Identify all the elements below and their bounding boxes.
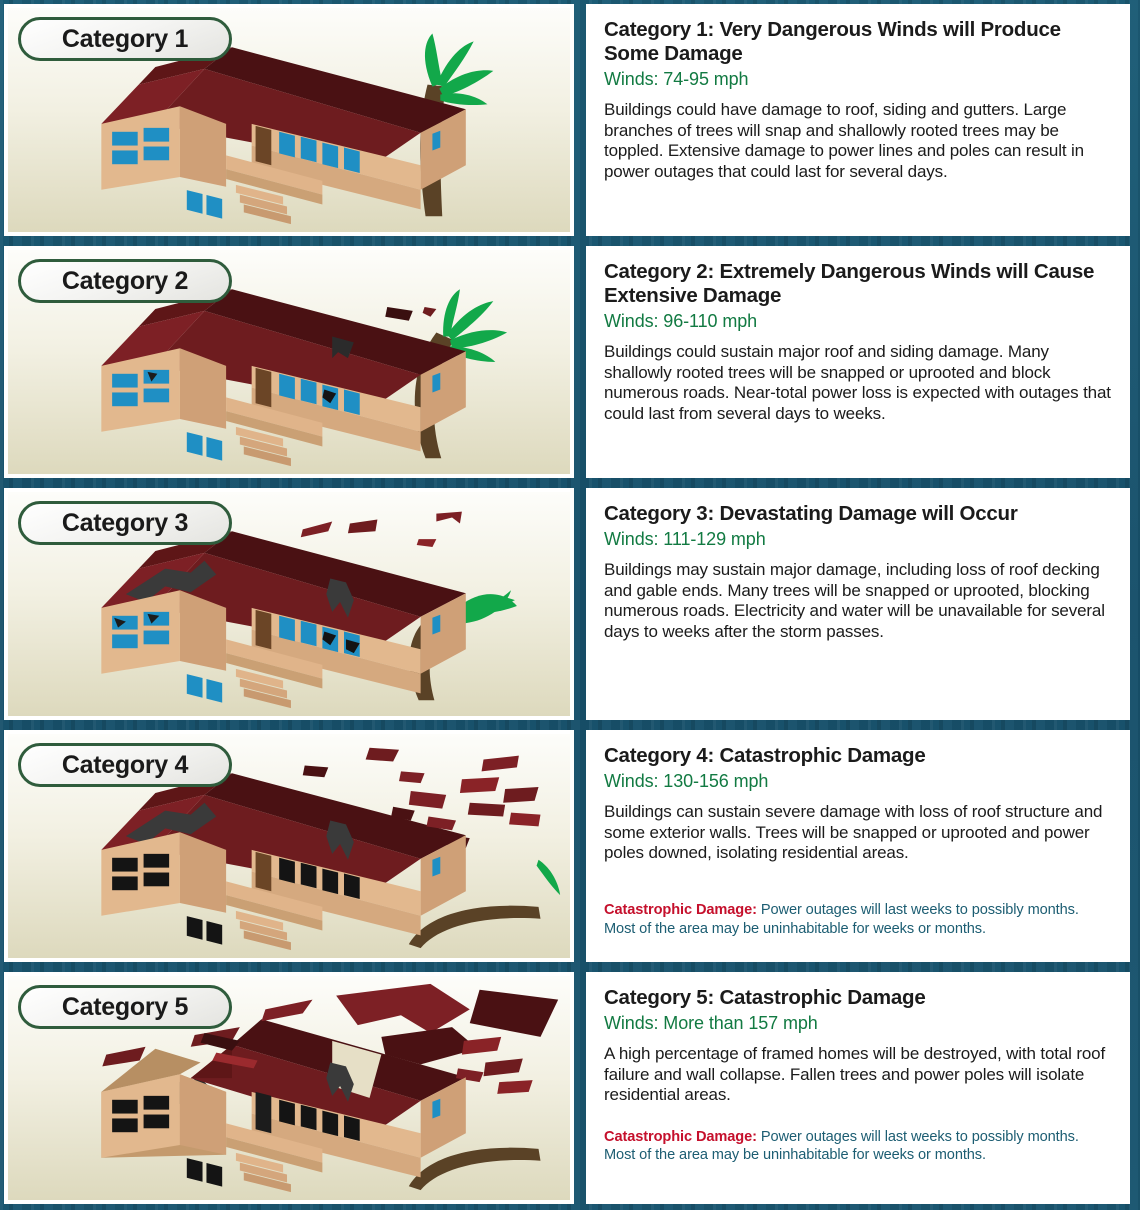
hurricane-scale-grid: Category 1	[0, 0, 1140, 1210]
text-cell-2: Category 2: Extremely Dangerous Winds wi…	[580, 242, 1140, 484]
text-card-3: Category 3: Devastating Damage will Occu…	[586, 488, 1130, 720]
text-cell-3: Category 3: Devastating Damage will Occu…	[580, 484, 1140, 726]
illustration-cell-2: Category 2	[0, 242, 580, 484]
text-card-5: Category 5: Catastrophic Damage Winds: M…	[586, 972, 1130, 1204]
text-cell-1: Category 1: Very Dangerous Winds will Pr…	[580, 0, 1140, 242]
category-badge-2[interactable]: Category 2	[18, 259, 232, 303]
wind-speed: Winds: 74-95 mph	[604, 69, 1112, 90]
damage-description: Buildings could have damage to roof, sid…	[604, 100, 1112, 182]
text-card-2: Category 2: Extremely Dangerous Winds wi…	[586, 246, 1130, 478]
wind-speed: Winds: 96-110 mph	[604, 311, 1112, 332]
catastrophic-note-label: Catastrophic Damage:	[604, 902, 757, 918]
illustration-card-4: Category 4	[4, 730, 574, 962]
illustration-card-2: Category 2	[4, 246, 574, 478]
catastrophic-note: Catastrophic Damage: Power outages will …	[604, 901, 1112, 938]
category-title: Category 1: Very Dangerous Winds will Pr…	[604, 18, 1112, 66]
damage-description: Buildings may sustain major damage, incl…	[604, 560, 1112, 642]
flying-debris	[301, 512, 462, 547]
category-title: Category 4: Catastrophic Damage	[604, 744, 1112, 768]
catastrophic-note-label: Catastrophic Damage:	[604, 1129, 757, 1145]
wind-speed: Winds: 130-156 mph	[604, 771, 1112, 792]
category-badge-label: Category 2	[62, 267, 188, 296]
damage-description: A high percentage of framed homes will b…	[604, 1044, 1112, 1106]
palm-tree-snapped-icon	[409, 1148, 541, 1190]
illustration-cell-1: Category 1	[0, 0, 580, 242]
illustration-cell-4: Category 4	[0, 726, 580, 968]
category-badge-5[interactable]: Category 5	[18, 985, 232, 1029]
flying-debris	[385, 307, 436, 321]
illustration-cell-5: Category 5	[0, 968, 580, 1210]
illustration-card-3: Category 3	[4, 488, 574, 720]
text-cell-4: Category 4: Catastrophic Damage Winds: 1…	[580, 726, 1140, 968]
category-badge-3[interactable]: Category 3	[18, 501, 232, 545]
damage-description: Buildings can sustain severe damage with…	[604, 802, 1112, 864]
text-cell-5: Category 5: Catastrophic Damage Winds: M…	[580, 968, 1140, 1210]
text-card-1: Category 1: Very Dangerous Winds will Pr…	[586, 4, 1130, 236]
illustration-card-1: Category 1	[4, 4, 574, 236]
catastrophic-note: Catastrophic Damage: Power outages will …	[604, 1128, 1112, 1165]
category-badge-1[interactable]: Category 1	[18, 17, 232, 61]
category-badge-label: Category 5	[62, 993, 188, 1022]
illustration-card-5: Category 5	[4, 972, 574, 1204]
illustration-cell-3: Category 3	[0, 484, 580, 726]
category-title: Category 5: Catastrophic Damage	[604, 986, 1112, 1010]
category-title: Category 3: Devastating Damage will Occu…	[604, 502, 1112, 526]
wind-speed: Winds: More than 157 mph	[604, 1013, 1112, 1034]
wind-speed: Winds: 111-129 mph	[604, 529, 1112, 550]
category-title: Category 2: Extremely Dangerous Winds wi…	[604, 260, 1112, 308]
text-card-4: Category 4: Catastrophic Damage Winds: 1…	[586, 730, 1130, 962]
category-badge-4[interactable]: Category 4	[18, 743, 232, 787]
category-badge-label: Category 3	[62, 509, 188, 538]
category-badge-label: Category 1	[62, 25, 188, 54]
category-badge-label: Category 4	[62, 751, 188, 780]
damage-description: Buildings could sustain major roof and s…	[604, 342, 1112, 424]
